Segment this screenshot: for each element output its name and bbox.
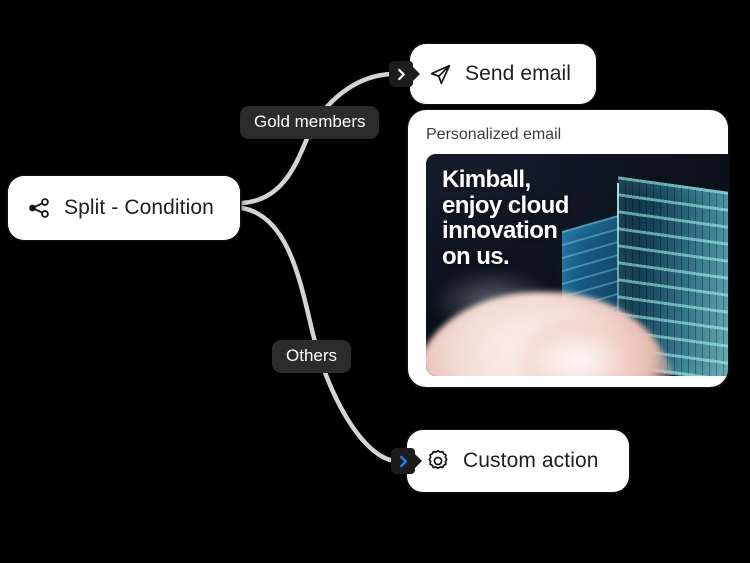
share-branch-icon — [26, 195, 52, 221]
chevron-right-icon — [396, 68, 407, 81]
preview-card-title: Personalized email — [426, 126, 714, 144]
connector-arrow-custom-action[interactable] — [391, 448, 415, 474]
node-send-email[interactable]: Send email — [410, 44, 596, 104]
node-custom-action-label: Custom action — [463, 449, 599, 473]
preview-card-headline: Kimball, enjoy cloud innovation on us. — [442, 167, 678, 270]
gear-icon — [425, 448, 451, 474]
connector-to-custom-action — [242, 208, 394, 461]
chevron-right-icon — [398, 455, 409, 468]
workflow-canvas[interactable]: Split - Condition Send email Custom acti… — [0, 0, 750, 563]
branch-chip-gold-members[interactable]: Gold members — [240, 106, 379, 139]
node-split-condition[interactable]: Split - Condition — [8, 176, 240, 240]
connector-arrow-send-email[interactable] — [389, 61, 413, 87]
preview-card-personalized-email[interactable]: Personalized email Kimball, enjoy cloud … — [408, 110, 728, 387]
branch-chip-others[interactable]: Others — [272, 340, 351, 373]
preview-card-artwork: Kimball, enjoy cloud innovation on us. — [426, 154, 728, 376]
paper-plane-icon — [428, 62, 453, 87]
node-send-email-label: Send email — [465, 62, 571, 86]
node-split-condition-label: Split - Condition — [64, 196, 214, 220]
node-custom-action[interactable]: Custom action — [407, 430, 629, 492]
